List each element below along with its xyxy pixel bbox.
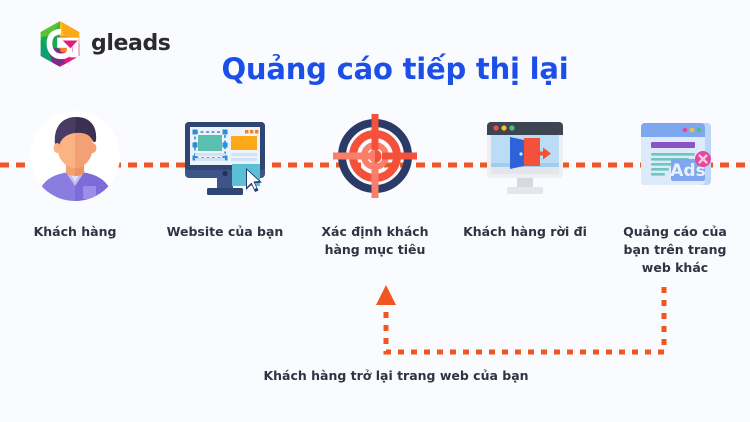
- monitor-exit-door-icon: [477, 108, 573, 204]
- flow-step-target: Xác định khách hàng mục tiêu: [300, 108, 450, 277]
- flow-step-label: Khách hàng: [34, 223, 117, 241]
- flow-step-label: Khách hàng rời đi: [463, 223, 587, 241]
- flow-step-website: Website của bạn: [150, 108, 300, 277]
- return-path-caption: Khách hàng trở lại trang web của bạn: [0, 368, 750, 383]
- infographic-canvas: gleads Quảng cáo tiếp thị lại: [0, 0, 750, 422]
- customer-avatar-icon: [27, 108, 123, 204]
- return-path-loop: [370, 283, 680, 361]
- browser-ads-banner-icon: Ads: [627, 108, 723, 204]
- flow-step-label: Quảng cáo của bạn trên trang web khác: [611, 223, 739, 277]
- desktop-monitor-website-icon: [177, 108, 273, 204]
- flow-step-customer: Khách hàng: [0, 108, 150, 277]
- crosshair-target-icon: [327, 108, 423, 204]
- flow-step-label: Website của bạn: [167, 223, 284, 241]
- flow-step-leaves: Khách hàng rời đi: [450, 108, 600, 277]
- flow-step-label: Xác định khách hàng mục tiêu: [311, 223, 439, 259]
- page-title: Quảng cáo tiếp thị lại: [0, 52, 750, 86]
- flow-step-retarget-ads: Ads Quảng cáo của bạn trên trang web khá…: [600, 108, 750, 277]
- up-arrow-icon: [376, 285, 396, 305]
- flow-steps: Khách hàng: [0, 108, 750, 277]
